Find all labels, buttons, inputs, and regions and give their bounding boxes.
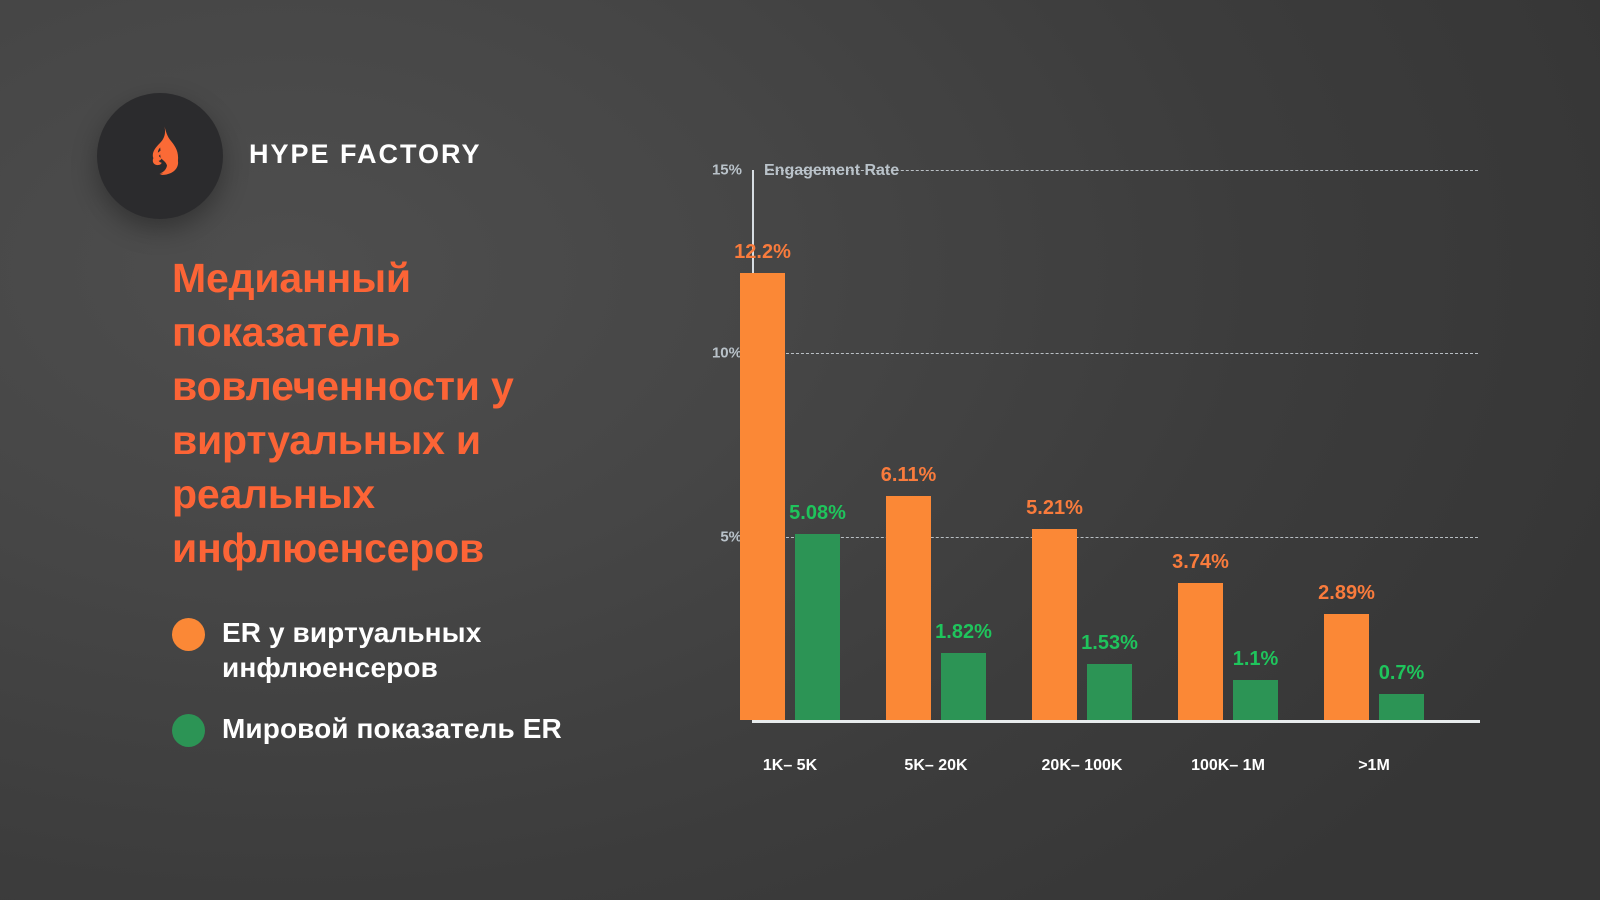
bar-value-label: 0.7% — [1379, 662, 1425, 685]
y-axis-tick-label: 15% — [712, 162, 742, 179]
engagement-rate-bar-chart: 5%10%15%Engagement Rate12.2%5.08%1K– 5K6… — [690, 150, 1510, 790]
x-axis-category-label: 20K– 100K — [1042, 757, 1123, 775]
axis-title-engagement-rate: Engagement Rate — [764, 162, 899, 180]
x-axis-category-label: 1K– 5K — [763, 757, 817, 775]
brand-lockup: HYPE FACTORY — [97, 93, 487, 219]
bar-virtual-0[interactable] — [740, 273, 785, 720]
flame-icon — [134, 125, 186, 187]
y-axis-tick-label: 5% — [720, 528, 742, 545]
bar-value-label: 6.11% — [881, 464, 937, 487]
page-title: Медианный показатель вовлеченности у вир… — [172, 251, 602, 575]
logo-badge — [97, 93, 223, 219]
gridline-10 — [766, 353, 1478, 354]
x-axis-line — [752, 720, 1480, 723]
bar-global-1[interactable] — [941, 653, 986, 720]
bar-global-0[interactable] — [795, 534, 840, 720]
gridline-5 — [766, 537, 1478, 538]
legend-label-global: Мировой показатель ER — [222, 711, 562, 746]
bar-value-label: 1.82% — [935, 621, 992, 644]
bar-value-label: 12.2% — [734, 241, 791, 264]
legend-item-global: Мировой показатель ER — [172, 711, 692, 747]
legend-item-virtual: ER у виртуальных инфлюенсеров — [172, 615, 692, 685]
legend-swatch-orange-icon — [172, 618, 205, 651]
chart-legend: ER у виртуальных инфлюенсеров Мировой по… — [172, 615, 692, 747]
bar-value-label: 5.08% — [789, 502, 846, 525]
x-axis-category-label: 5K– 20K — [904, 757, 967, 775]
bar-global-3[interactable] — [1233, 680, 1278, 720]
x-axis-category-label: 100K– 1M — [1191, 757, 1265, 775]
bar-virtual-1[interactable] — [886, 496, 931, 720]
brand-name: HYPE FACTORY — [249, 139, 482, 170]
legend-swatch-green-icon — [172, 714, 205, 747]
bar-value-label: 1.53% — [1081, 632, 1138, 655]
bar-value-label: 5.21% — [1026, 497, 1083, 520]
bar-virtual-3[interactable] — [1178, 583, 1223, 720]
bar-global-2[interactable] — [1087, 664, 1132, 720]
bar-value-label: 3.74% — [1172, 551, 1229, 574]
bar-value-label: 1.1% — [1233, 648, 1279, 671]
x-axis-category-label: >1M — [1358, 757, 1390, 775]
bar-global-4[interactable] — [1379, 694, 1424, 720]
bar-value-label: 2.89% — [1318, 582, 1375, 605]
legend-label-virtual: ER у виртуальных инфлюенсеров — [222, 615, 692, 685]
bar-virtual-4[interactable] — [1324, 614, 1369, 720]
slide-canvas: HYPE FACTORY Медианный показатель вовлеч… — [0, 0, 1600, 900]
y-axis-tick-label: 10% — [712, 345, 742, 362]
bar-virtual-2[interactable] — [1032, 529, 1077, 720]
